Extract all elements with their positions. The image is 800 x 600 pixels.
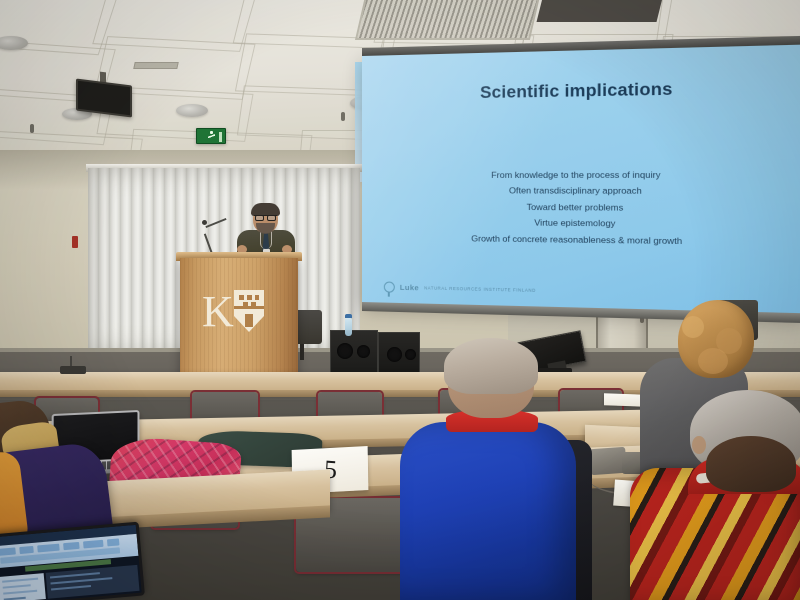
slide-footer-logo: Luke NATURAL RESOURCES INSTITUTE FINLAND bbox=[384, 281, 536, 296]
podium-letter: K bbox=[202, 290, 234, 334]
hair-curl bbox=[698, 348, 728, 374]
blue-vest bbox=[400, 422, 576, 600]
sprinkler-head bbox=[30, 124, 34, 133]
paper-sheet bbox=[604, 393, 644, 406]
ceiling-slot-fixture bbox=[133, 62, 178, 69]
glasses-bridge bbox=[254, 215, 277, 220]
chair-leg bbox=[300, 344, 304, 360]
pa-speaker-cabinet bbox=[330, 330, 378, 378]
presentation-slide: Scientific implications From knowledge t… bbox=[362, 45, 800, 316]
exit-door-icon bbox=[219, 132, 222, 142]
left-pane[interactable] bbox=[0, 573, 46, 600]
ceiling-vent-dark bbox=[537, 0, 664, 22]
wall-mounted-monitor bbox=[76, 79, 132, 118]
emergency-exit-sign bbox=[196, 128, 226, 144]
running-man-icon bbox=[208, 131, 215, 141]
right-pane[interactable] bbox=[46, 565, 140, 599]
slide-title: Scientific implications bbox=[362, 77, 800, 105]
attendee-hair-gray bbox=[444, 338, 538, 394]
attendee-sami-shawl bbox=[636, 440, 800, 600]
water-bottle[interactable] bbox=[345, 318, 352, 336]
ceiling-air-vent bbox=[355, 0, 540, 40]
slide-bullet: Often transdisciplinary approach bbox=[362, 183, 800, 200]
microphone-head bbox=[202, 220, 207, 225]
coat-of-arms-band bbox=[234, 306, 264, 309]
slide-bullet-list: From knowledge to the process of inquiry… bbox=[362, 167, 800, 251]
slide-bullet: From knowledge to the process of inquiry bbox=[362, 167, 800, 184]
projection-screen: Scientific implications From knowledge t… bbox=[362, 45, 800, 316]
slide-bullet: Growth of concrete reasonableness & mora… bbox=[362, 230, 800, 251]
attendee-blue-vest bbox=[392, 344, 588, 600]
luke-logo-icon bbox=[384, 281, 395, 292]
sprinkler-head bbox=[341, 112, 345, 121]
desk-microphone bbox=[60, 366, 86, 374]
ceiling-downlight bbox=[176, 104, 208, 117]
conference-room-screenshot: Scientific implications From knowledge t… bbox=[0, 0, 800, 600]
hair-curl bbox=[682, 316, 704, 338]
fire-alarm-device bbox=[72, 236, 78, 248]
luke-logo-wordmark: Luke bbox=[400, 283, 419, 293]
luke-logo-subtitle: NATURAL RESOURCES INSTITUTE FINLAND bbox=[424, 285, 536, 293]
attendee-hair-brown bbox=[706, 436, 796, 492]
podium: K bbox=[180, 258, 298, 384]
laptop-spreadsheet-ui[interactable] bbox=[0, 522, 145, 600]
